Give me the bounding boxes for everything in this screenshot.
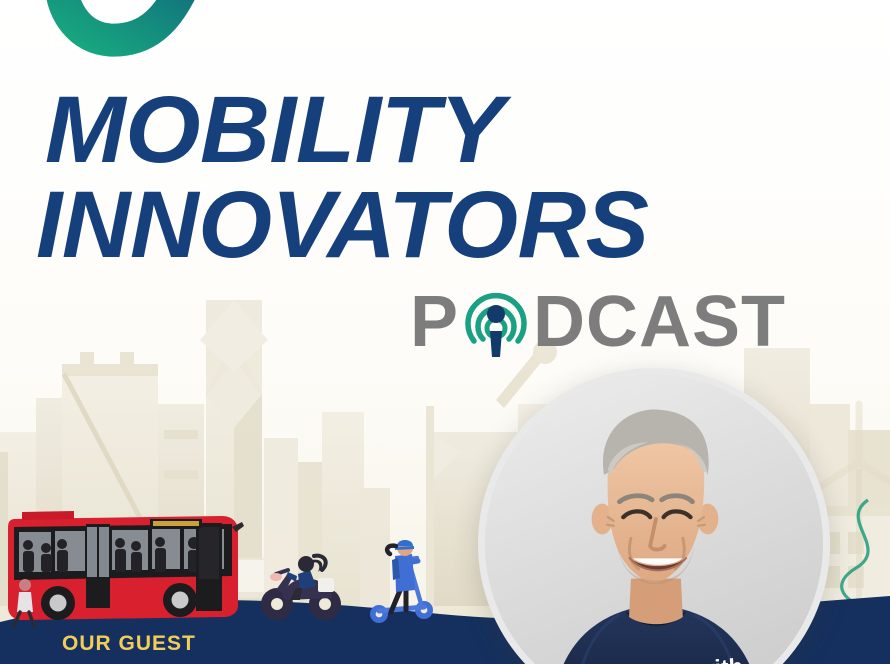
podcast-waves-icon xyxy=(461,287,531,357)
city-bus xyxy=(8,511,244,620)
podcast-wordmark: P DCAST xyxy=(0,286,890,358)
podcast-title-block: MOBILITY INNOVATORS xyxy=(0,86,890,271)
podcast-word-suffix: DCAST xyxy=(533,286,786,358)
title-line-innovators: INNOVATORS xyxy=(0,181,890,270)
podcast-word-prefix: P xyxy=(410,286,459,358)
guest-portrait: Fall in Love with the PROBLEM xyxy=(485,375,823,664)
title-line-mobility: MOBILITY xyxy=(0,86,890,175)
podcast-cover: MOBILITY INNOVATORS P DCAST xyxy=(0,0,890,664)
our-guest-label: OUR GUEST xyxy=(62,633,196,654)
